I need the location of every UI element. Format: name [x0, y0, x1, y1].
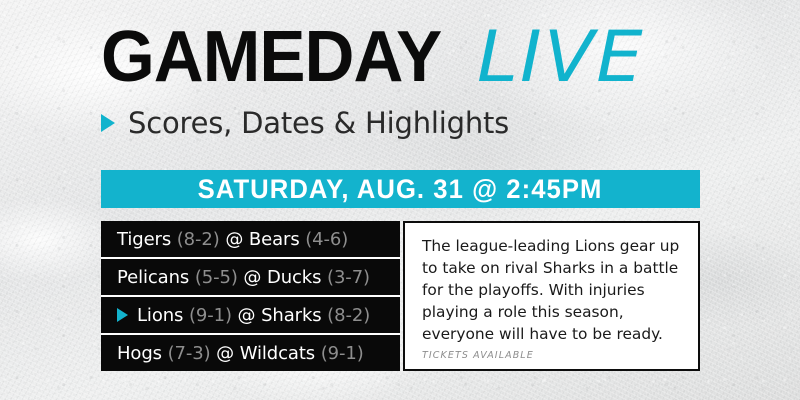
game-row[interactable]: Lions (9-1) @ Sharks (8-2) [101, 297, 400, 333]
poster-subtitle-label: Scores, Dates & Highlights [128, 106, 509, 140]
at-separator: @ [243, 267, 261, 288]
home-team-name: Sharks [261, 305, 321, 326]
away-team-name: Pelicans [117, 267, 189, 288]
home-team-record: (8-2) [327, 305, 370, 326]
game-row-label: Tigers (8-2) @ Bears (4-6) [117, 229, 348, 250]
home-team-record: (3-7) [327, 267, 370, 288]
home-team-name: Ducks [267, 267, 321, 288]
games-list: Tigers (8-2) @ Bears (4-6)Pelicans (5-5)… [101, 221, 400, 371]
gameday-live-poster: GAMEDAY LIVE Scores, Dates & Highlights … [0, 0, 800, 400]
game-row-label: Pelicans (5-5) @ Ducks (3-7) [117, 267, 370, 288]
game-row[interactable]: Pelicans (5-5) @ Ducks (3-7) [101, 259, 400, 295]
date-banner: SATURDAY, AUG. 31 @ 2:45PM [101, 170, 700, 208]
away-team-record: (7-3) [168, 343, 211, 364]
away-team-record: (8-2) [177, 229, 220, 250]
home-team-name: Wildcats [240, 343, 315, 364]
game-row-label: Hogs (7-3) @ Wildcats (9-1) [117, 343, 364, 364]
home-team-name: Bears [249, 229, 300, 250]
matchup-description-panel: The league-leading Lions gear up to take… [403, 221, 700, 371]
away-team-name: Tigers [117, 229, 171, 250]
at-separator: @ [238, 305, 256, 326]
page-title-main: GAMEDAY [101, 22, 441, 92]
game-row[interactable]: Hogs (7-3) @ Wildcats (9-1) [101, 335, 400, 371]
game-row-label: Lions (9-1) @ Sharks (8-2) [137, 305, 370, 326]
poster-header: GAMEDAY LIVE Scores, Dates & Highlights [101, 22, 721, 140]
home-team-record: (9-1) [321, 343, 364, 364]
game-row[interactable]: Tigers (8-2) @ Bears (4-6) [101, 221, 400, 257]
away-team-name: Lions [137, 305, 183, 326]
featured-game-triangle-right-icon [117, 308, 128, 322]
page-title: GAMEDAY LIVE [101, 22, 721, 92]
tickets-available-note: TICKETS AVAILABLE [422, 350, 682, 361]
date-banner-label: SATURDAY, AUG. 31 @ 2:45PM [198, 174, 603, 205]
poster-subtitle: Scores, Dates & Highlights [101, 106, 721, 140]
matchup-description-text: The league-leading Lions gear up to take… [422, 235, 682, 345]
at-separator: @ [216, 343, 234, 364]
at-separator: @ [225, 229, 243, 250]
page-title-accent: LIVE [477, 22, 645, 92]
away-team-record: (5-5) [195, 267, 238, 288]
away-team-name: Hogs [117, 343, 162, 364]
home-team-record: (4-6) [305, 229, 348, 250]
away-team-record: (9-1) [189, 305, 232, 326]
triangle-right-icon [101, 114, 115, 132]
